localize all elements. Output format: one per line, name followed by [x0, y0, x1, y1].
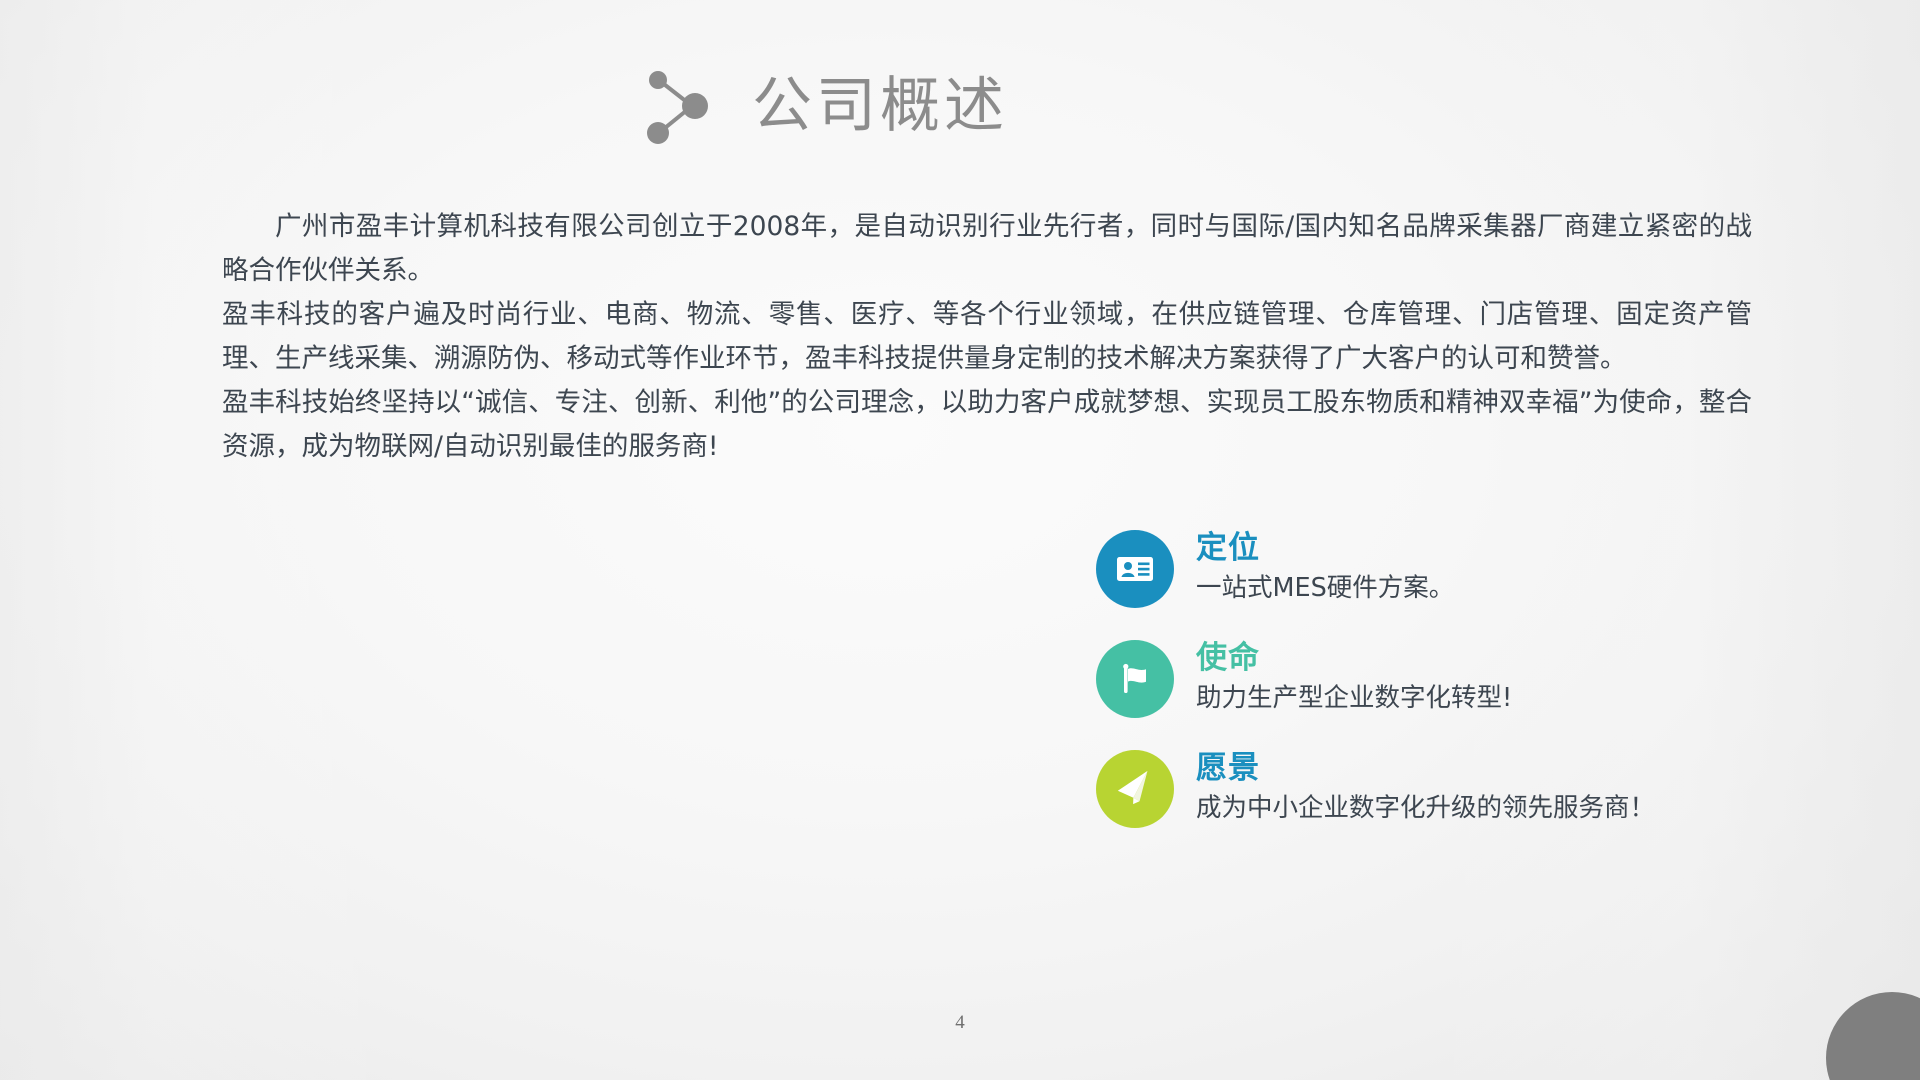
value-desc-positioning: 一站式MES硬件方案。 — [1196, 573, 1454, 605]
slide-canvas: 公司概述 广州市盈丰计算机科技有限公司创立于2008年，是自动识别行业先行者，同… — [0, 0, 1920, 1080]
value-title-vision: 愿景 — [1196, 750, 1655, 787]
value-item-mission: 使命 助力生产型企业数字化转型! — [1096, 638, 1796, 718]
company-overview-text: 广州市盈丰计算机科技有限公司创立于2008年，是自动识别行业先行者，同时与国际/… — [222, 205, 1752, 469]
page-number: 4 — [0, 1012, 1920, 1034]
flag-badge — [1096, 640, 1174, 718]
paper-plane-badge — [1096, 750, 1174, 828]
id-card-badge — [1096, 530, 1174, 608]
paper-plane-icon — [1112, 766, 1158, 812]
paragraph-3: 盈丰科技始终坚持以“诚信、专注、创新、利他”的公司理念，以助力客户成就梦想、实现… — [222, 381, 1752, 469]
value-item-positioning: 定位 一站式MES硬件方案。 — [1096, 528, 1796, 608]
paragraph-1: 广州市盈丰计算机科技有限公司创立于2008年，是自动识别行业先行者，同时与国际/… — [222, 205, 1752, 293]
page-title: 公司概述 — [752, 76, 1008, 136]
value-text-vision: 愿景 成为中小企业数字化升级的领先服务商！ — [1196, 748, 1655, 824]
value-desc-mission: 助力生产型企业数字化转型! — [1196, 683, 1512, 715]
value-text-mission: 使命 助力生产型企业数字化转型! — [1196, 638, 1512, 714]
paragraph-2: 盈丰科技的客户遍及时尚行业、电商、物流、零售、医疗、等各个行业领域，在供应链管理… — [222, 293, 1752, 381]
value-text-positioning: 定位 一站式MES硬件方案。 — [1196, 528, 1454, 604]
value-title-mission: 使命 — [1196, 640, 1512, 677]
id-card-icon — [1113, 547, 1157, 591]
flag-icon — [1113, 657, 1157, 701]
value-list: 定位 一站式MES硬件方案。 使命 助力生产型企业数字化转型! — [1096, 528, 1796, 828]
value-desc-vision: 成为中小企业数字化升级的领先服务商！ — [1196, 793, 1655, 825]
share-nodes-icon — [640, 66, 718, 146]
corner-circle-decoration — [1826, 992, 1920, 1080]
value-item-vision: 愿景 成为中小企业数字化升级的领先服务商！ — [1096, 748, 1796, 828]
slide-header: 公司概述 — [640, 66, 1008, 146]
value-title-positioning: 定位 — [1196, 530, 1454, 567]
